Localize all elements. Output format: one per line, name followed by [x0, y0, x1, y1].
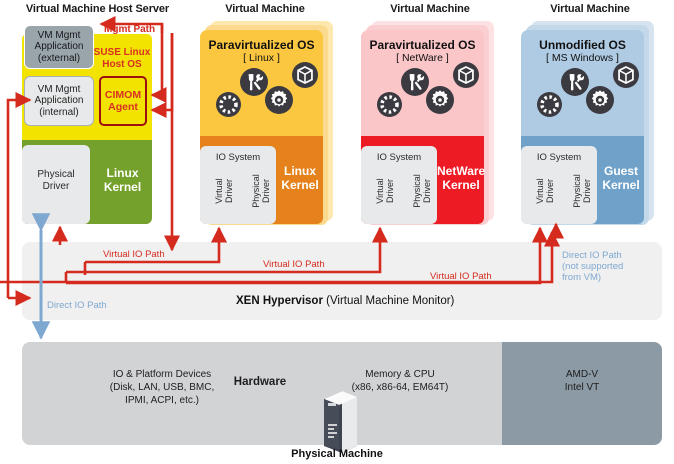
cube-icon: [613, 62, 639, 88]
vm-2-io-system-label: IO System: [361, 152, 437, 163]
vm-1-virtual-driver-label: VirtualDriver: [214, 164, 234, 218]
gear-icon: [265, 86, 293, 114]
vm-3-io-system-label: IO System: [521, 152, 597, 163]
virtual-io-path-label-3: Virtual IO Path: [430, 271, 492, 282]
dashed-ring-icon: [377, 92, 402, 117]
gear-icon: [586, 86, 614, 114]
vm-mgmt-application-internal[interactable]: VM Mgmt Application (internal): [24, 76, 94, 126]
gear-icon: [426, 86, 454, 114]
column-title-host-server: Virtual Machine Host Server: [0, 3, 195, 15]
virtual-io-path-label-2: Virtual IO Path: [263, 259, 325, 270]
column-title-vm-2: Virtual Machine: [355, 3, 505, 15]
host-physical-driver-label: PhysicalDriver: [22, 169, 90, 193]
direct-io-path-unsupported-label: Direct IO Path (not supported from VM): [562, 250, 623, 283]
vm-2-os-title: Paravirtualized OS: [361, 38, 484, 52]
vm-3-virtual-driver-box: VirtualDriver: [524, 164, 557, 222]
vm-2-physical-driver-label: PhysicalDriver: [412, 164, 432, 218]
vm-2-physical-driver-box: PhysicalDriver: [400, 164, 435, 222]
vm-3-os-title: Unmodified OS: [521, 38, 644, 52]
hypervisor-subtitle: (Virtual Machine Monitor): [323, 295, 454, 307]
host-physical-driver-box: PhysicalDriver: [22, 145, 90, 224]
vm-1-kernel-label: LinuxKernel: [277, 164, 323, 192]
suse-host-os-label: SUSE LinuxHost OS: [92, 47, 152, 71]
vm-3-physical-driver-label: PhysicalDriver: [572, 164, 592, 218]
cube-icon: [292, 62, 318, 88]
host-kernel-label: LinuxKernel: [95, 166, 150, 194]
tools-icon: [561, 68, 589, 96]
vm-1-virtual-driver-box: VirtualDriver: [203, 164, 236, 222]
vm-3-physical-driver-box: PhysicalDriver: [560, 164, 595, 222]
cube-icon: [453, 62, 479, 88]
cimom-agent[interactable]: CIMOMAgent: [99, 76, 147, 126]
virtual-io-path-label-1: Virtual IO Path: [103, 249, 165, 260]
cimom-agent-label: CIMOMAgent: [105, 89, 141, 113]
vm-2-virtual-driver-box: VirtualDriver: [364, 164, 397, 222]
vm-mgmt-internal-label: VM Mgmt Application (internal): [35, 84, 84, 119]
dashed-ring-icon: [216, 92, 241, 117]
column-title-vm-1: Virtual Machine: [190, 3, 340, 15]
virtualization-extensions-label: AMD-V Intel VT: [502, 368, 662, 394]
hardware-label: Hardware: [200, 376, 320, 389]
vm-mgmt-external-label: VM Mgmt Application (external): [35, 30, 84, 65]
memory-cpu-label: Memory & CPU (x86, x86-64, EM64T): [320, 368, 480, 394]
hypervisor-name: XEN Hypervisor: [236, 295, 323, 307]
physical-machine-label: Physical Machine: [0, 448, 674, 460]
vm-3-kernel-label: GuestKernel: [597, 164, 645, 192]
vm-3-virtual-driver-label: VirtualDriver: [535, 164, 555, 218]
direct-io-path-label: Direct IO Path: [47, 300, 107, 311]
diagram-canvas: Virtual Machine Host Server Virtual Mach…: [0, 0, 674, 464]
vm-2-virtual-driver-label: VirtualDriver: [375, 164, 395, 218]
vm-mgmt-application-external[interactable]: VM Mgmt Application (external): [24, 25, 94, 69]
tools-icon: [240, 68, 268, 96]
column-title-vm-3: Virtual Machine: [515, 3, 665, 15]
tools-icon: [401, 68, 429, 96]
vm-1-io-system-label: IO System: [200, 152, 276, 163]
vm-1-physical-driver-box: PhysicalDriver: [239, 164, 274, 222]
vm-2-kernel-label: NetWareKernel: [437, 164, 485, 192]
mgmt-path-label: Mgmt Path: [104, 24, 155, 35]
dashed-ring-icon: [537, 92, 562, 117]
vm-1-os-title: Paravirtualized OS: [200, 38, 323, 52]
xen-hypervisor-label: XEN Hypervisor (Virtual Machine Monitor): [236, 295, 454, 307]
mgmt-path-to-cimom-lower: [152, 33, 172, 110]
vm-1-physical-driver-label: PhysicalDriver: [251, 164, 271, 218]
